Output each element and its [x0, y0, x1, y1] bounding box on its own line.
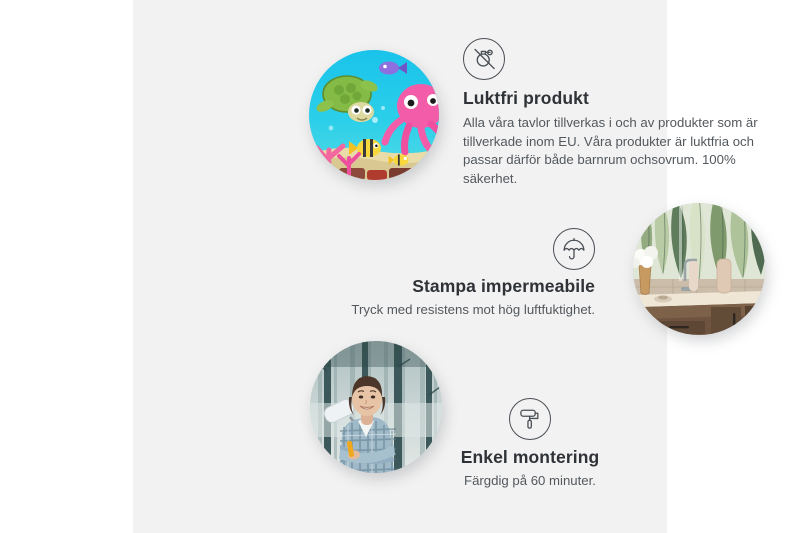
- feature-body-waterproof: Tryck med resistens mot hög luftfuktighe…: [333, 301, 595, 320]
- icon-wrap-odourless: [463, 38, 767, 80]
- feature-block-assembly: Enkel montering Färgdig på 60 minuter.: [435, 398, 625, 491]
- feature-title-waterproof: Stampa impermeabile: [333, 276, 595, 298]
- content-panel: Luktfri produkt Alla våra tavlor tillver…: [133, 0, 667, 533]
- product-photo-bathroom[interactable]: [633, 203, 765, 335]
- umbrella-icon: [553, 228, 595, 270]
- product-photo-forest[interactable]: [310, 341, 442, 473]
- feature-body-odourless: Alla våra tavlor tillverkas i och av pro…: [463, 114, 767, 189]
- feature-title-assembly: Enkel montering: [435, 447, 625, 469]
- screenshot-root: Luktfri produkt Alla våra tavlor tillver…: [0, 0, 800, 533]
- no-fragrance-icon: [463, 38, 505, 80]
- feature-title-odourless: Luktfri produkt: [463, 88, 767, 110]
- paint-roller-icon: [509, 398, 551, 440]
- icon-wrap-waterproof: [333, 228, 595, 276]
- feature-block-waterproof: Stampa impermeabile Tryck med resistens …: [333, 228, 595, 320]
- icon-wrap-assembly: [435, 398, 625, 447]
- feature-block-odourless: Luktfri produkt Alla våra tavlor tillver…: [463, 38, 767, 189]
- product-photo-ocean[interactable]: [309, 50, 439, 180]
- feature-body-assembly: Färgdig på 60 minuter.: [435, 472, 625, 491]
